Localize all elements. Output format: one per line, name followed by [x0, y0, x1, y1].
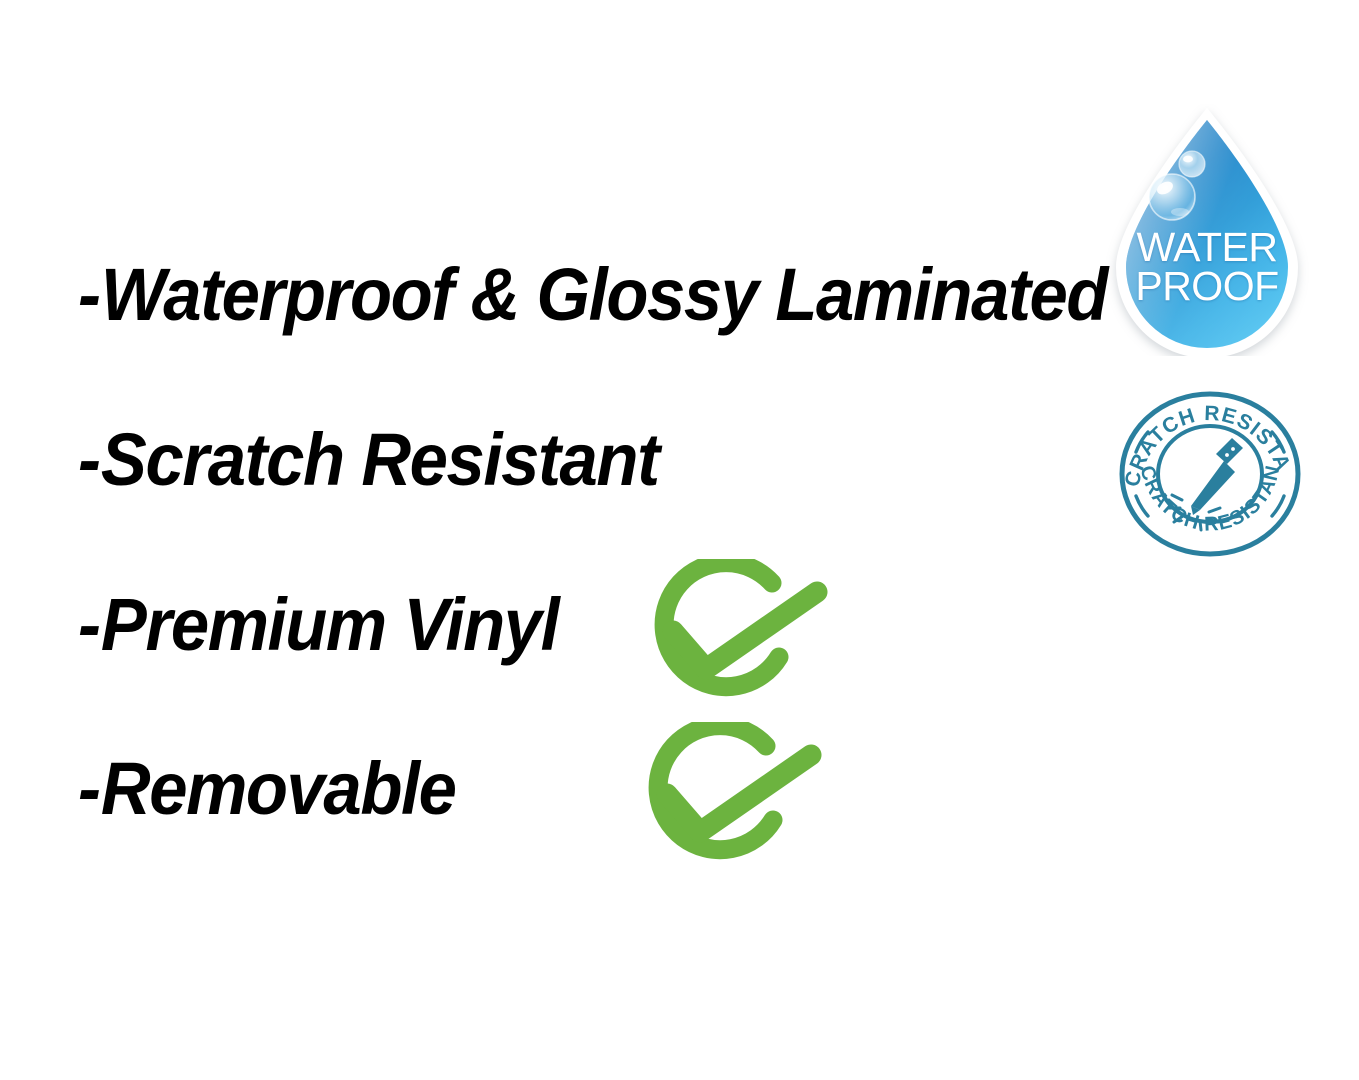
- seal-dash-right-lower: [1272, 496, 1284, 516]
- knife-spark-6: [1200, 521, 1201, 530]
- feature-item-premium-vinyl: -Premium Vinyl: [78, 588, 558, 662]
- knife-handle: [1216, 438, 1243, 464]
- water-bubble-small-highlight: [1183, 156, 1193, 163]
- feature-item-removable: -Removable: [78, 752, 456, 826]
- water-drop-icon: [1102, 104, 1312, 356]
- check-circle-icon: [640, 559, 836, 715]
- feature-item-waterproof-glossy-laminated: -Waterproof & Glossy Laminated: [78, 258, 1107, 332]
- feature-bullet-dash: -: [78, 418, 101, 501]
- feature-bullet-dash: -: [78, 583, 101, 666]
- check-circle-icon: [634, 722, 830, 878]
- feature-label: Removable: [101, 747, 456, 830]
- checkmark-premium-vinyl: [640, 559, 836, 715]
- feature-bullet-dash: -: [78, 253, 101, 336]
- feature-label: Scratch Resistant: [101, 418, 659, 501]
- check-tick: [667, 755, 811, 832]
- water-bubble-large-lowlight: [1171, 208, 1189, 216]
- feature-label: Premium Vinyl: [101, 583, 558, 666]
- scratch-resistant-badge: SCRATCH RESISTANT SCRATCH RESISTANT: [1114, 388, 1306, 560]
- seal-dash-left-lower: [1136, 496, 1148, 516]
- water-bubble-small: [1179, 151, 1205, 177]
- feature-item-scratch-resistant: -Scratch Resistant: [78, 423, 659, 497]
- knife-spark-4: [1209, 508, 1220, 512]
- check-tick: [673, 592, 817, 669]
- knife-rivet-2: [1225, 453, 1229, 457]
- knife-blade: [1191, 461, 1235, 510]
- feature-label: Waterproof & Glossy Laminated: [101, 253, 1107, 336]
- promo-feature-canvas: -Waterproof & Glossy Laminated -Scratch …: [0, 0, 1359, 1080]
- waterproof-badge: WATER PROOF: [1102, 104, 1312, 356]
- scratch-resistant-seal-icon: SCRATCH RESISTANT SCRATCH RESISTANT: [1114, 388, 1306, 560]
- feature-bullet-dash: -: [78, 747, 101, 830]
- knife-rivet-1: [1231, 447, 1235, 451]
- water-drop-sheen: [1126, 120, 1288, 348]
- checkmark-removable: [634, 722, 830, 878]
